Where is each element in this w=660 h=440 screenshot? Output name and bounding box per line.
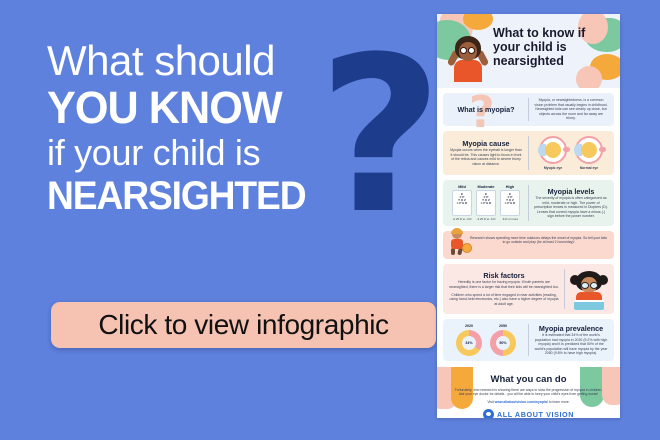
all-about-vision-logo: ALL ABOUT VISION: [437, 404, 620, 418]
prevalence-donut-charts: 2020 34% 2050 50%: [449, 324, 523, 356]
donut-2050-year: 2050: [490, 324, 516, 328]
myopic-eye-diagram: Myopic eye: [539, 136, 567, 170]
myopia-levels-title: Myopia levels: [534, 187, 608, 196]
what-you-can-do-body: Fortunately, new research is showing the…: [437, 385, 620, 397]
section-myopia-cause: Myopia cause Myopia occurs when the eyeb…: [443, 131, 614, 175]
myopia-cause-body: Myopia occurs when the eyeball is longer…: [449, 148, 523, 166]
eye-chart-mild: Mild E F P T O Z L P E D -0.25 D to -3 D: [452, 185, 472, 221]
infographic-footer: What you can do Fortunately, new researc…: [437, 367, 620, 418]
child-playing-ball-icon: [446, 229, 468, 255]
donut-2050-value: 50%: [496, 336, 510, 350]
section-research-band: Research shows spending more time outdoo…: [443, 231, 614, 259]
eye-chart-group: Mild E F P T O Z L P E D -0.25 D to -3 D…: [449, 185, 523, 221]
divider: [528, 324, 529, 356]
headline-line-2: YOU KNOW: [47, 84, 364, 132]
what-is-myopia-body: Myopia, or nearsightedness, is a common …: [534, 98, 608, 121]
section-myopia-levels: Mild E F P T O Z L P E D -0.25 D to -3 D…: [443, 180, 614, 226]
chart-row: L P E D: [502, 202, 518, 205]
prevalence-body: It is estimated that 34% of the world's …: [534, 333, 608, 356]
divider: [564, 269, 565, 309]
myopia-levels-body: The severity of myopia is often categori…: [534, 196, 608, 219]
eye-chart-high-diopters: -6 D or more: [500, 217, 520, 221]
what-you-can-do-title: What you can do: [437, 367, 620, 385]
eye-chart-high: High E F P T O Z L P E D -6 D or more: [500, 185, 520, 221]
eye-chart-high-label: High: [500, 185, 520, 189]
eye-chart-mild-diopters: -0.25 D to -3 D: [452, 217, 472, 221]
divider: [528, 185, 529, 221]
chart-row: L P E D: [478, 202, 494, 205]
eye-logo-icon: [483, 409, 494, 418]
donut-2020-year: 2020: [456, 324, 482, 328]
promo-banner: ? What should YOU KNOW if your child is …: [0, 0, 660, 440]
what-is-myopia-title: What is myopia?: [449, 105, 523, 114]
risk-factors-body-2: Children who spend a lot of time engaged…: [449, 293, 559, 307]
section-risk-factors: Risk factors Heredity is one factor for …: [443, 264, 614, 314]
headline-line-4: NEARSIGHTED: [47, 174, 354, 218]
headline-line-3: if your child is: [47, 132, 377, 174]
section-what-is-myopia: ? What is myopia? Myopia, or nearsighted…: [443, 93, 614, 126]
eye-chart-moderate-diopters: -3.25 D to -6 D: [476, 217, 496, 221]
section-myopia-prevalence: 2020 34% 2050 50%: [443, 319, 614, 361]
risk-factors-body-1: Heredity is one factor for having myopia…: [449, 280, 559, 289]
myopic-eye-label: Myopic eye: [539, 166, 567, 170]
donut-chart-2050: 2050 50%: [490, 324, 516, 356]
child-reading-icon: [570, 269, 608, 309]
eye-diagram-group: Myopic eye Normal eye: [534, 136, 608, 170]
infographic-header: What to know if your child is nearsighte…: [437, 14, 620, 88]
promo-left-panel: ? What should YOU KNOW if your child is …: [0, 0, 437, 440]
child-illustration-icon: [453, 36, 483, 82]
view-infographic-button[interactable]: Click to view infographic: [51, 302, 436, 348]
eye-chart-moderate-label: Moderate: [476, 185, 496, 189]
infographic-thumbnail[interactable]: What to know if your child is nearsighte…: [437, 14, 620, 418]
decor-peach-shape-3: [576, 66, 602, 88]
eye-chart-moderate: Moderate E F P T O Z L P E D -3.25 D to …: [476, 185, 496, 221]
headline-line-1: What should: [47, 38, 377, 84]
eye-chart-mild-label: Mild: [452, 185, 472, 189]
divider: [528, 98, 529, 121]
myopia-cause-title: Myopia cause: [449, 139, 523, 148]
infographic-title: What to know if your child is nearsighte…: [493, 26, 611, 68]
normal-eye-label: Normal eye: [575, 166, 603, 170]
research-band-text: Research shows spending more time outdoo…: [469, 236, 608, 245]
promo-headline: What should YOU KNOW if your child is NE…: [47, 38, 377, 218]
footer-link-line[interactable]: Visit www.allaboutvision.com/myopia/ to …: [437, 397, 620, 404]
all-about-vision-logo-text: ALL ABOUT VISION: [497, 410, 574, 418]
risk-factors-title: Risk factors: [449, 271, 559, 280]
donut-2020-value: 34%: [462, 336, 476, 350]
normal-eye-diagram: Normal eye: [575, 136, 603, 170]
chart-row: L P E D: [454, 202, 470, 205]
donut-chart-2020: 2020 34%: [456, 324, 482, 356]
view-infographic-button-label: Click to view infographic: [98, 309, 388, 341]
divider: [528, 136, 529, 170]
prevalence-title: Myopia prevalence: [534, 324, 608, 333]
